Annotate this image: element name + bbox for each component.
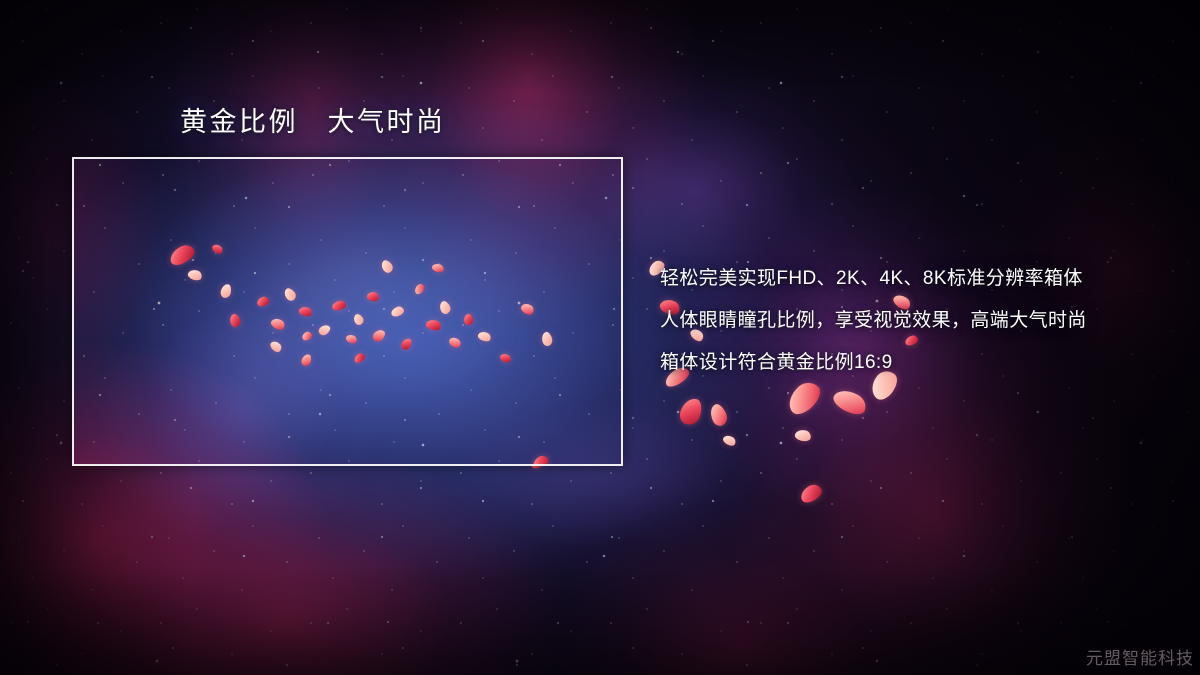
petal [413,282,426,295]
petal [317,323,332,337]
preview-nebula-red [72,157,623,466]
petal [345,333,358,345]
watermark: 元盟智能科技 [1086,644,1194,669]
petal [269,339,284,354]
petal [353,352,367,364]
framed-display-preview [72,157,623,466]
petal [798,482,824,506]
body-line-1: 轻松完美实现FHD、2K、4K、8K标准分辨率箱体 [660,258,1180,300]
body-text-block: 轻松完美实现FHD、2K、4K、8K标准分辨率箱体 人体眼睛瞳孔比例，享受视觉效… [660,258,1180,384]
petal [228,313,242,329]
petal [540,331,553,347]
preview-starfield-bright [72,157,623,466]
petal [463,313,474,326]
petal [301,330,313,341]
petal [298,305,313,318]
petal [167,242,197,268]
preview-nebula-base [72,157,623,466]
petal [519,301,535,317]
petal [830,385,869,419]
petal [707,402,730,428]
petal [722,433,738,447]
petal [425,318,442,332]
petal [477,330,492,343]
petal [379,258,395,274]
petal [366,291,380,303]
petal [499,352,512,364]
petal [448,335,463,349]
petal [438,299,453,315]
petal [300,353,312,367]
petal [352,312,366,326]
preview-starfield-fine [72,157,623,466]
petal [220,283,233,299]
petal [400,337,414,352]
preview-nebula-violet [72,157,623,466]
petal [371,327,387,343]
preview-petals [72,157,623,466]
petal [530,453,551,466]
body-line-3: 箱体设计符合黄金比例16:9 [660,342,1180,384]
preview-starfield-mid [72,157,623,466]
petal [431,262,445,274]
page-title: 黄金比例 大气时尚 [180,100,446,139]
petal [211,242,225,255]
petal [390,305,405,318]
petal [269,316,286,332]
body-line-2: 人体眼睛瞳孔比例，享受视觉效果，高端大气时尚 [660,300,1180,342]
petal [187,268,204,282]
petal [282,286,298,302]
presentation-slide: 黄金比例 大气时尚 轻松完美实现FHD、2K、4K、8K标准分辨率箱体 人体眼睛… [0,0,1200,675]
petal [331,300,346,311]
petal [794,428,812,443]
petal [677,396,704,428]
petal [256,296,270,308]
preview-content [72,157,623,466]
